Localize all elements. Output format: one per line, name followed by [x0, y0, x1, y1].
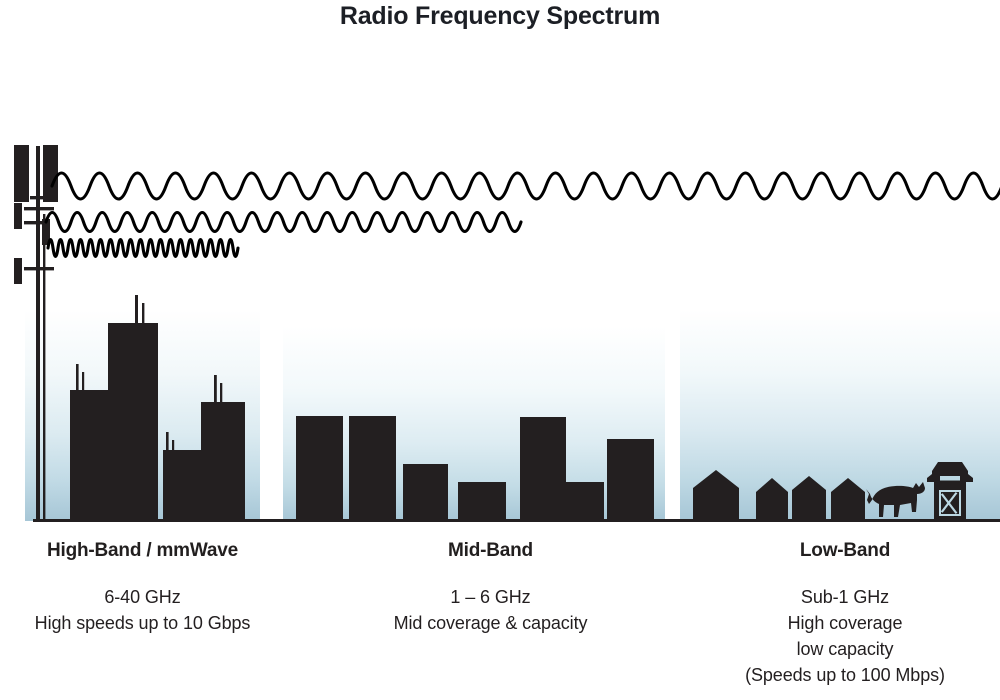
infographic-canvas: Radio Frequency Spectrum — [0, 0, 1000, 700]
wave-low-band — [52, 173, 1000, 199]
band-coverage-low: High coverage — [700, 610, 990, 636]
band-captions: High-Band / mmWave 6-40 GHz High speeds … — [0, 540, 1000, 700]
band-details-low: Sub-1 GHz High coverage low capacity (Sp… — [700, 584, 990, 688]
band-frequency-mid: 1 – 6 GHz — [348, 584, 633, 610]
band-details-mid: 1 – 6 GHz Mid coverage & capacity — [348, 584, 633, 636]
band-speed-high: High speeds up to 10 Gbps — [10, 610, 275, 636]
caption-low-band: Low-Band Sub-1 GHz High coverage low cap… — [700, 540, 990, 688]
wave-high-band — [48, 240, 238, 257]
band-speed-mid: Mid coverage & capacity — [348, 610, 633, 636]
ground-line — [33, 519, 1000, 522]
antenna-panel-lower — [14, 258, 22, 284]
caption-high-band: High-Band / mmWave 6-40 GHz High speeds … — [10, 540, 275, 636]
band-frequency-low: Sub-1 GHz — [700, 584, 990, 610]
wave-mid-band — [46, 213, 521, 232]
band-details-high: 6-40 GHz High speeds up to 10 Gbps — [10, 584, 275, 636]
antenna-panel-mid-left — [14, 203, 22, 229]
band-name-mid: Mid-Band — [348, 540, 633, 562]
antenna-panel-top-right — [43, 145, 58, 202]
band-frequency-high: 6-40 GHz — [10, 584, 275, 610]
band-name-low: Low-Band — [700, 540, 990, 562]
band-speed-low: (Speeds up to 100 Mbps) — [700, 662, 990, 688]
spectrum-scene — [0, 0, 1000, 540]
band-capacity-low: low capacity — [700, 636, 990, 662]
antenna-panel-top-left — [14, 145, 29, 202]
band-name-high: High-Band / mmWave — [10, 540, 275, 562]
caption-mid-band: Mid-Band 1 – 6 GHz Mid coverage & capaci… — [348, 540, 633, 636]
